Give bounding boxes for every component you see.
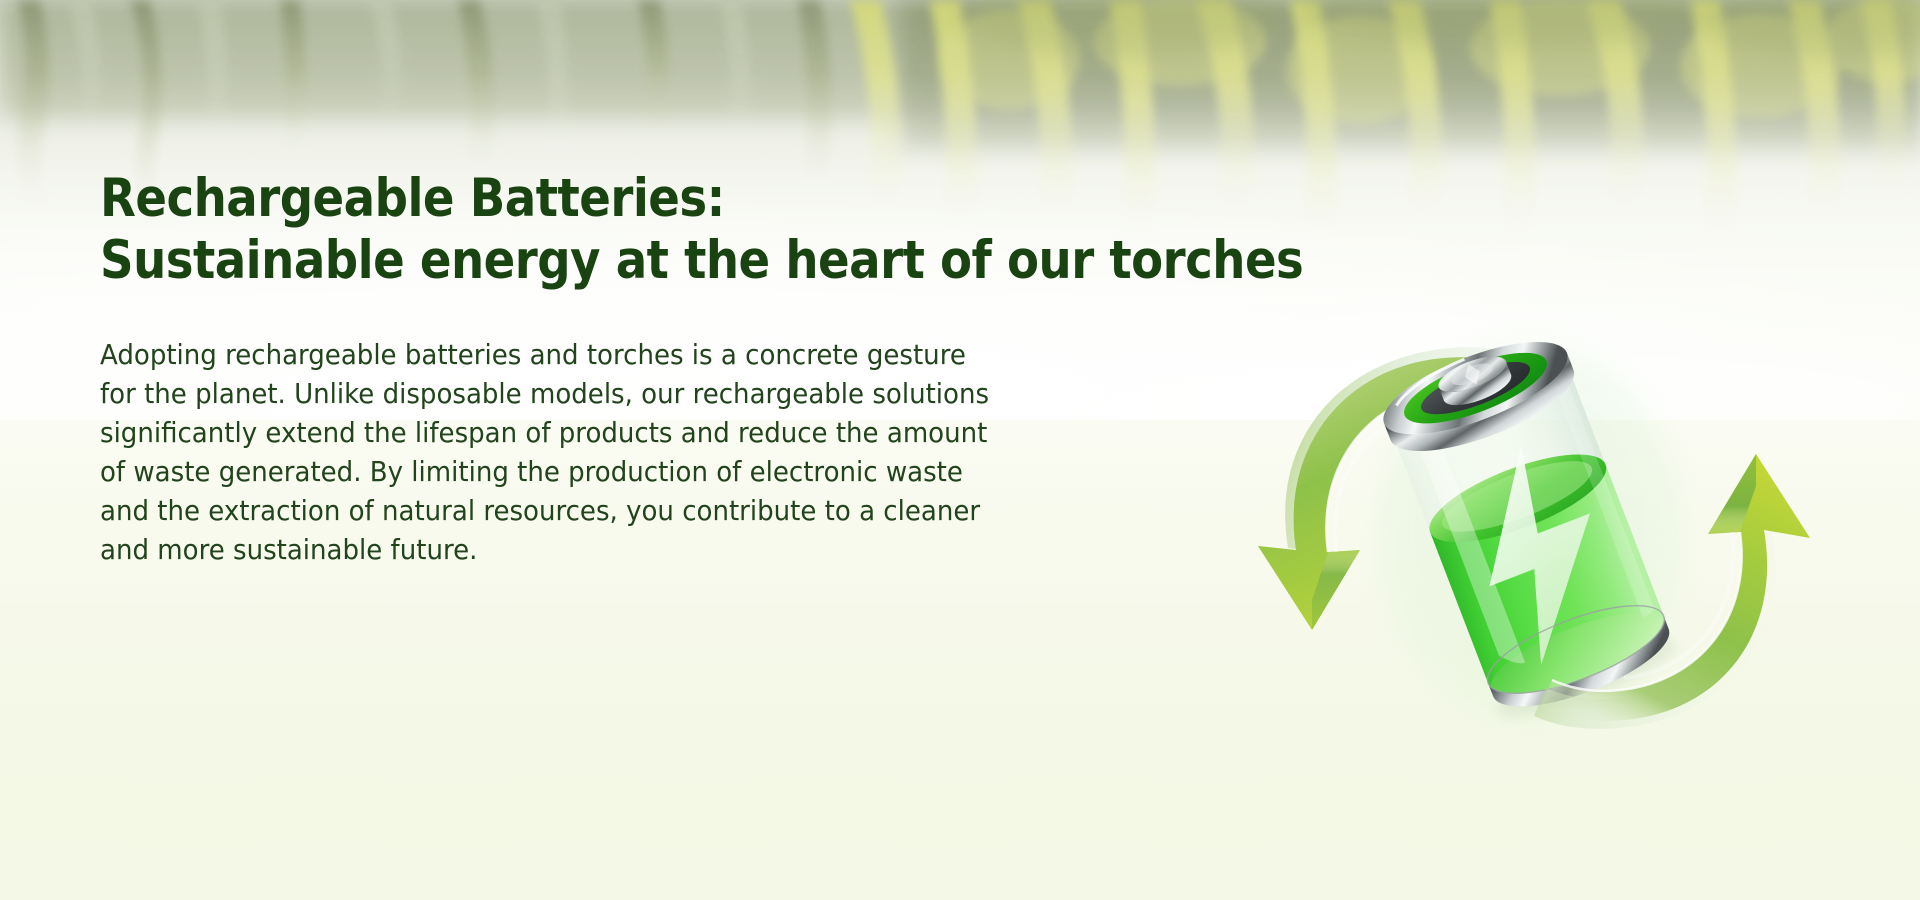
eco-battery-banner: Rechargeable Batteries: Sustainable ener…	[0, 0, 1920, 900]
headline-line-1: Rechargeable Batteries:	[100, 168, 725, 229]
body-line-2: for the planet. Unlike disposable models…	[100, 375, 1132, 414]
body-line-1: Adopting rechargeable batteries and torc…	[100, 336, 1132, 375]
battery-illustration	[1200, 300, 1860, 750]
body-line-4: of waste generated. By limiting the prod…	[100, 453, 1132, 492]
body-line-6: and more sustainable future.	[100, 531, 1132, 570]
headline-line-2: Sustainable energy at the heart of our t…	[100, 230, 1086, 292]
text-column: Rechargeable Batteries: Sustainable ener…	[100, 168, 1220, 569]
body-paragraph: Adopting rechargeable batteries and torc…	[100, 336, 1132, 569]
page-title: Rechargeable Batteries: Sustainable ener…	[100, 168, 1086, 292]
body-line-5: and the extraction of natural resources,…	[100, 492, 1132, 531]
body-line-3: significantly extend the lifespan of pro…	[100, 414, 1132, 453]
